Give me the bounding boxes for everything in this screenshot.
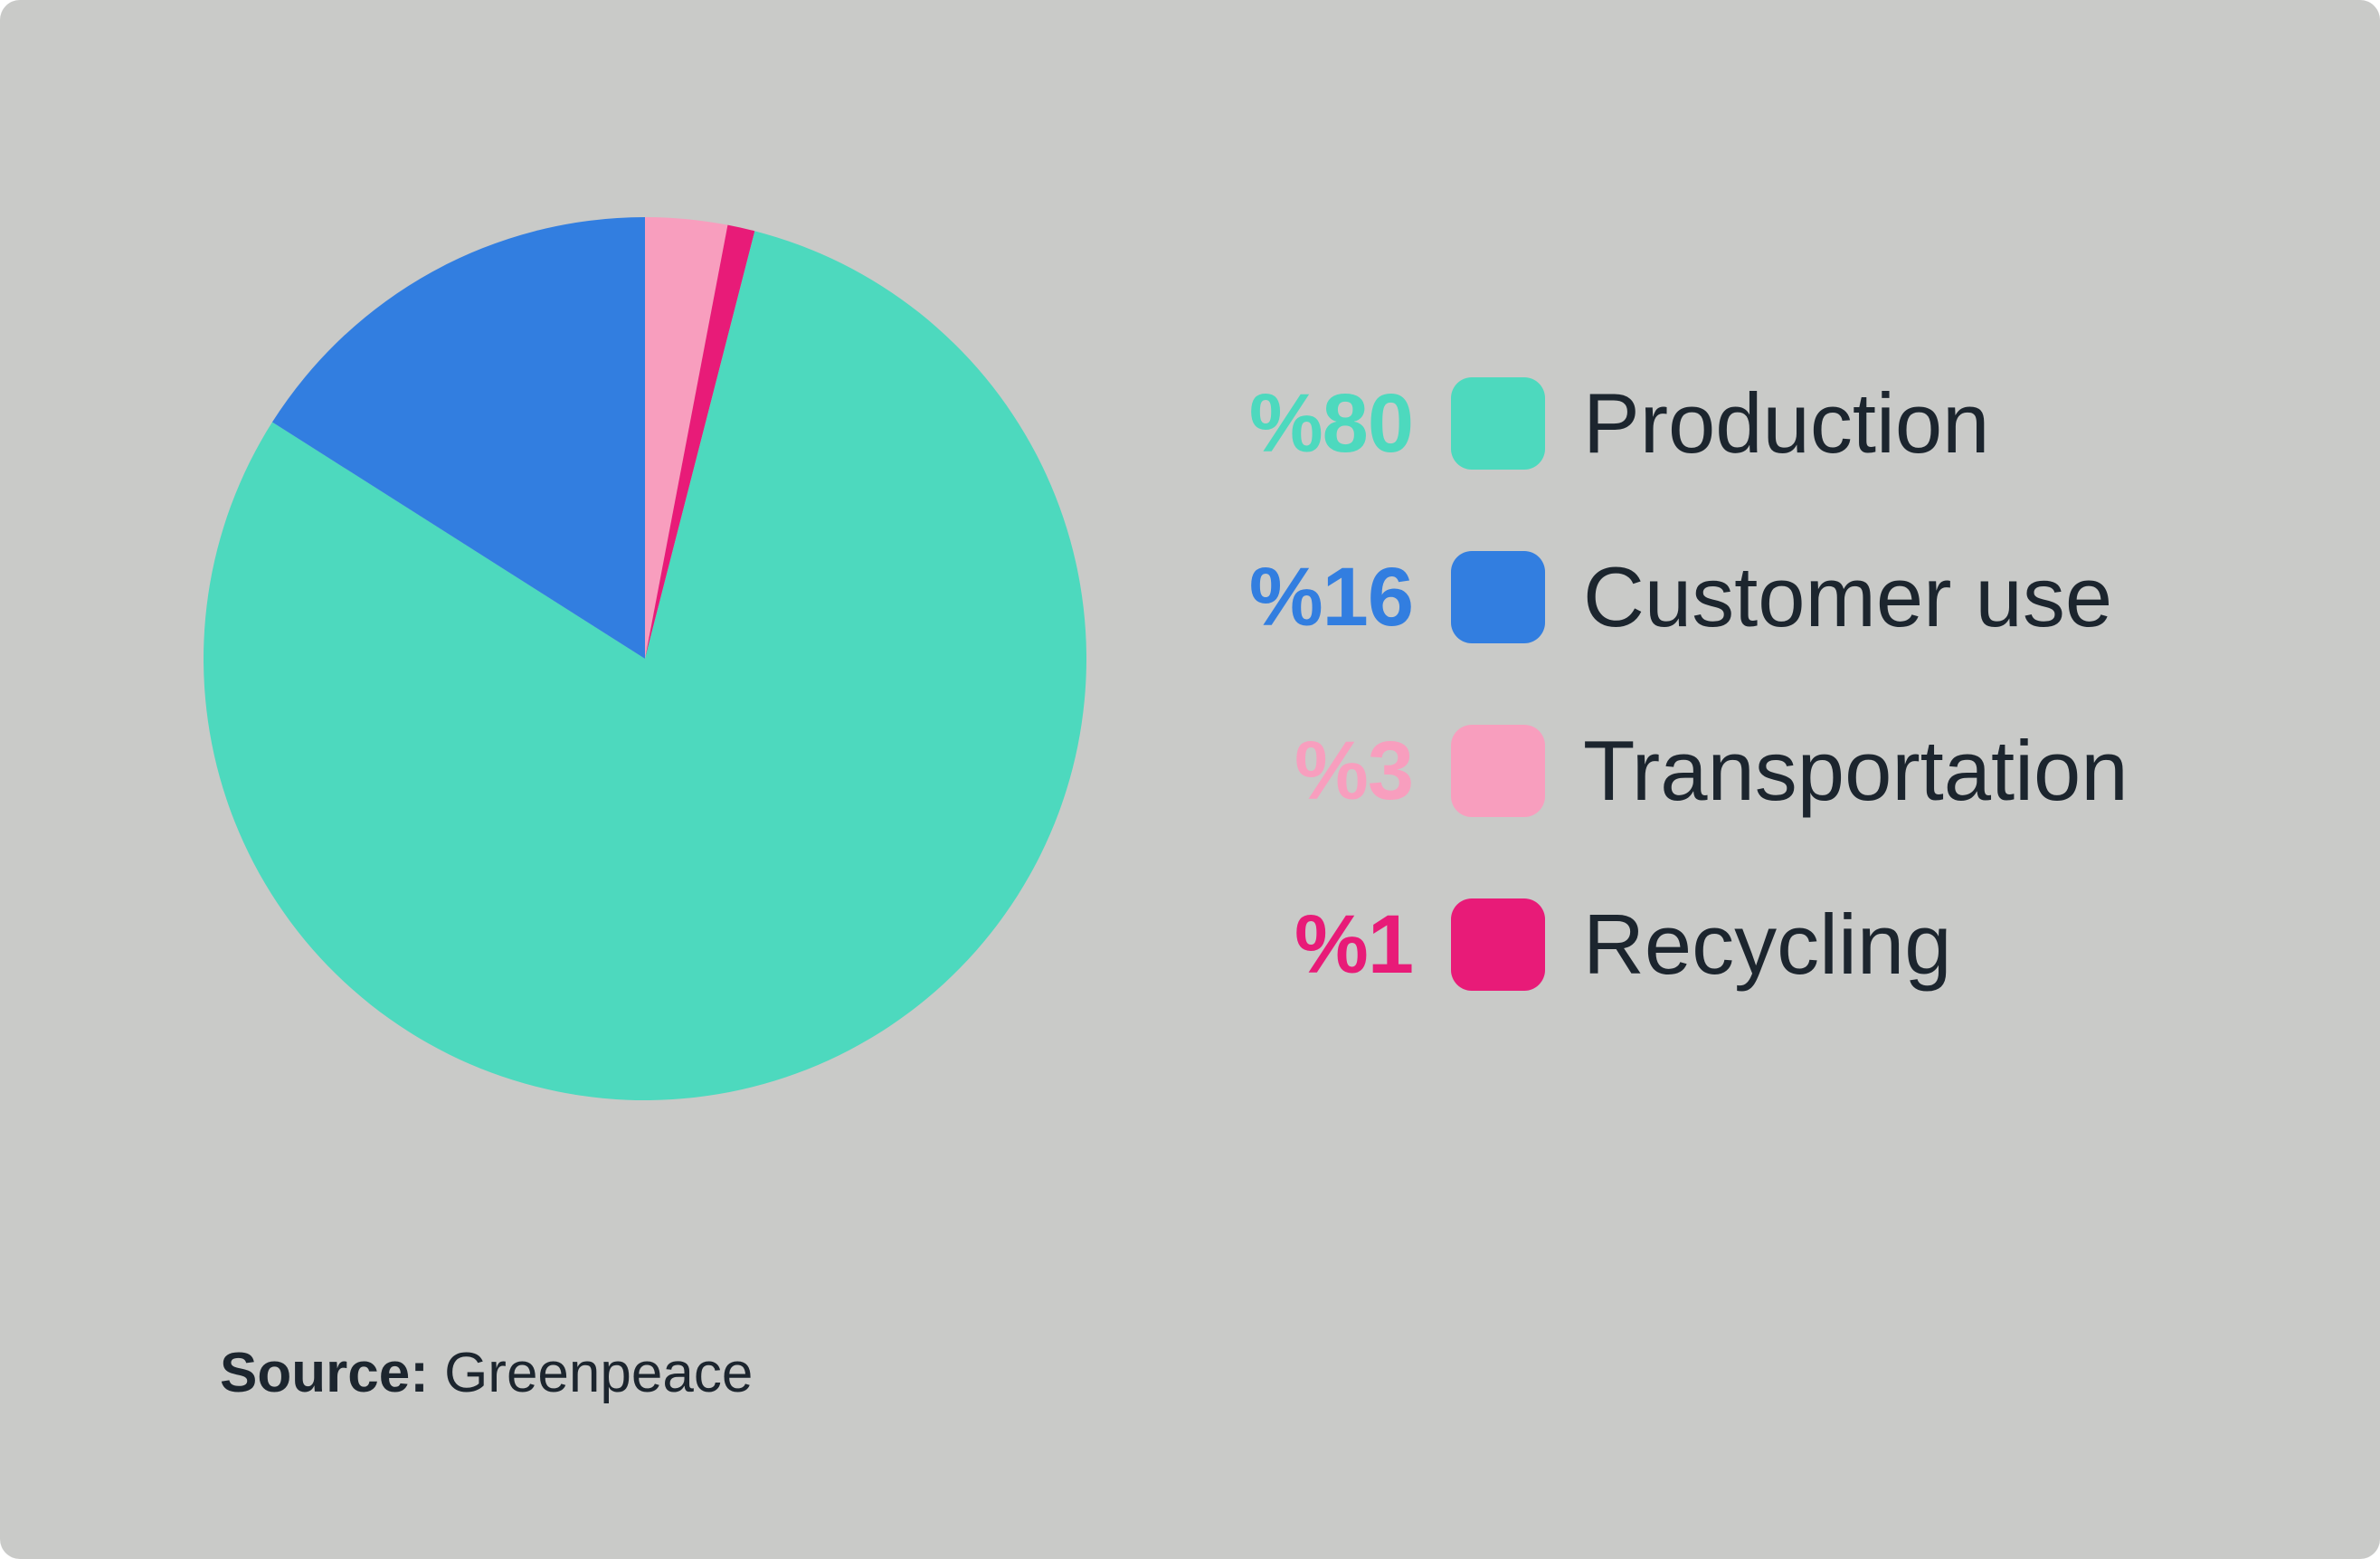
legend-label-recycling: Recycling [1583, 902, 1952, 987]
chart-legend: %80 Production %16 Customer use %3 Trans… [1239, 337, 2252, 1031]
legend-percent-transportation: %3 [1239, 729, 1413, 813]
legend-percent-production: %80 [1239, 382, 1413, 465]
pie-slice-group [204, 217, 1086, 1100]
legend-label-customer-use: Customer use [1583, 555, 2112, 640]
legend-percent-customer-use: %16 [1239, 556, 1413, 639]
source-value: Greenpeace [444, 1342, 753, 1404]
legend-label-transportation: Transportation [1583, 728, 2129, 813]
pie-chart [204, 217, 1086, 1100]
legend-item-recycling[interactable]: %1 Recycling [1239, 858, 2252, 1031]
legend-percent-recycling: %1 [1239, 903, 1413, 986]
legend-item-production[interactable]: %80 Production [1239, 337, 2252, 510]
legend-swatch-production [1451, 377, 1545, 470]
legend-item-transportation[interactable]: %3 Transportation [1239, 684, 2252, 858]
source-label: Source: [220, 1342, 429, 1404]
pie-chart-infographic: %80 Production %16 Customer use %3 Trans… [0, 0, 2380, 1559]
source-attribution: Source: Greenpeace [220, 1345, 753, 1402]
pie-chart-svg [204, 217, 1086, 1100]
legend-swatch-transportation [1451, 725, 1545, 817]
legend-swatch-customer-use [1451, 551, 1545, 643]
legend-item-customer-use[interactable]: %16 Customer use [1239, 510, 2252, 684]
legend-label-production: Production [1583, 381, 1989, 466]
legend-swatch-recycling [1451, 898, 1545, 991]
